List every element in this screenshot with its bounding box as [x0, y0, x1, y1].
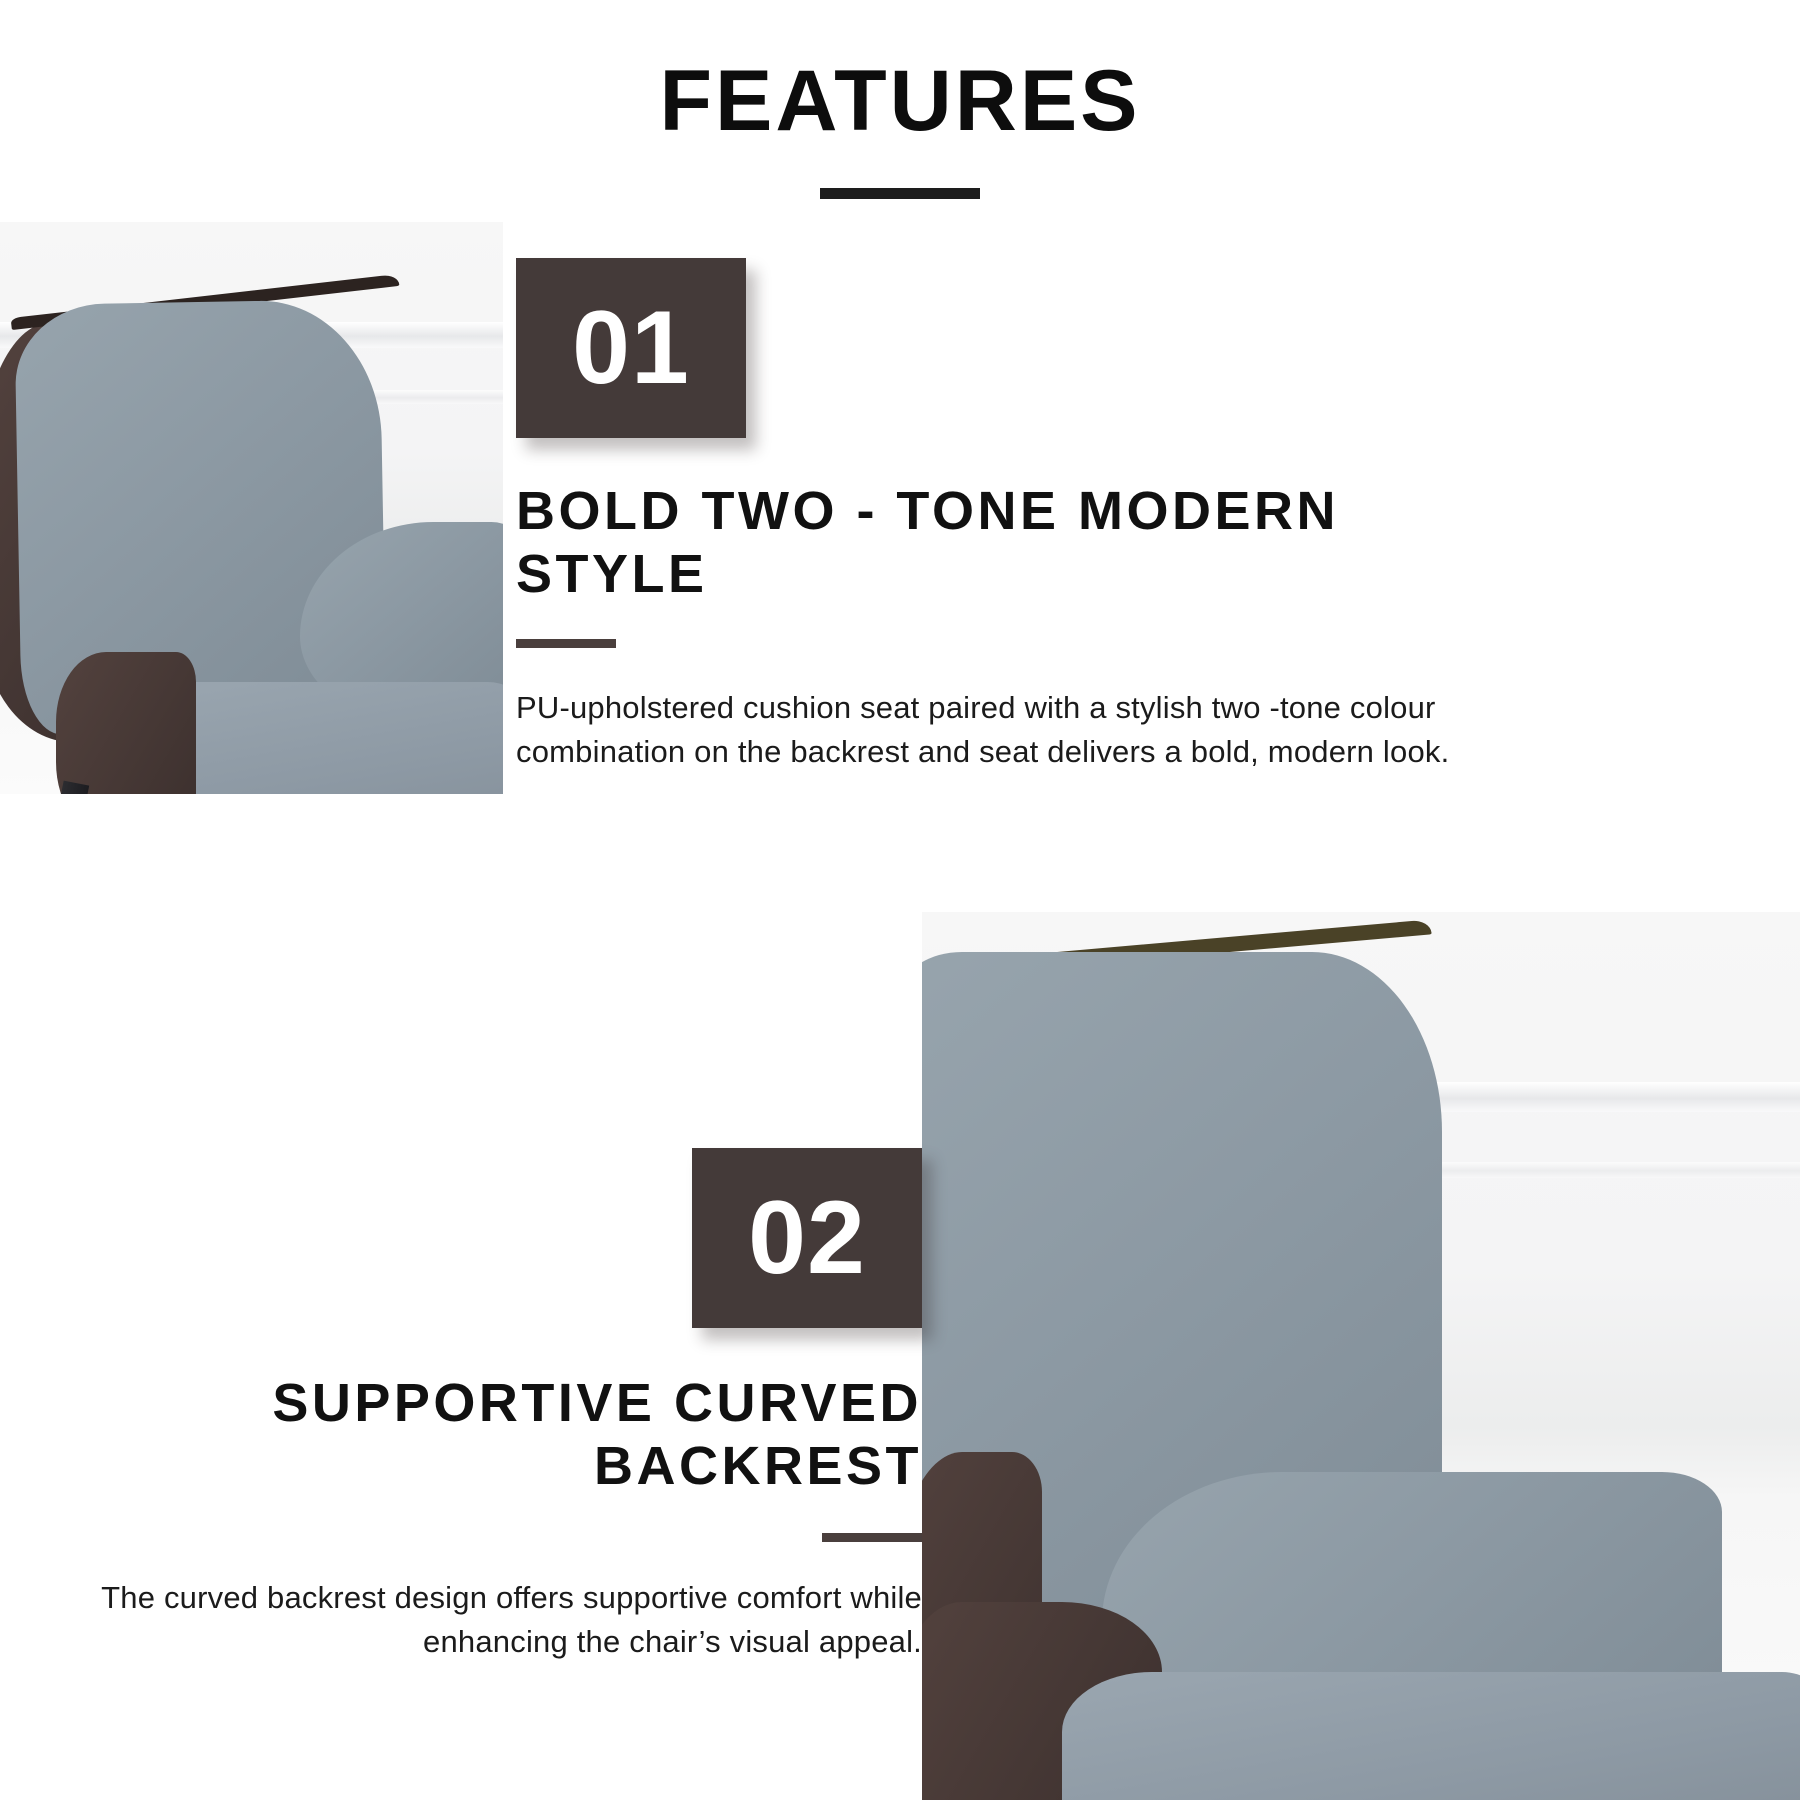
feature-image-02 [922, 912, 1800, 1800]
page-header: FEATURES [0, 0, 1800, 220]
chair-seat-side [56, 652, 196, 794]
feature-block-02: 02 SUPPORTIVE CURVED BACKREST The curved… [96, 1148, 922, 1664]
feature-body-01: PU-upholstered cushion seat paired with … [516, 686, 1476, 774]
feature-body-02: The curved backrest design offers suppor… [96, 1576, 922, 1664]
feature-heading-01: BOLD TWO - TONE MODERN STYLE [516, 480, 1456, 605]
feature-image-01 [0, 222, 503, 794]
feature-number-01: 01 [572, 296, 690, 400]
feature-divider-01 [516, 639, 616, 648]
feature-block-01: 01 BOLD TWO - TONE MODERN STYLE PU-uphol… [516, 258, 1516, 774]
chair-seat-cushion [1062, 1672, 1800, 1800]
feature-number-badge-02: 02 [692, 1148, 922, 1328]
feature-number-badge-01: 01 [516, 258, 746, 438]
feature-divider-02 [822, 1533, 922, 1542]
feature-number-02: 02 [748, 1186, 866, 1290]
title-underline-rule [820, 188, 980, 199]
feature-heading-02: SUPPORTIVE CURVED BACKREST [96, 1372, 922, 1497]
page-title: FEATURES [659, 58, 1140, 144]
